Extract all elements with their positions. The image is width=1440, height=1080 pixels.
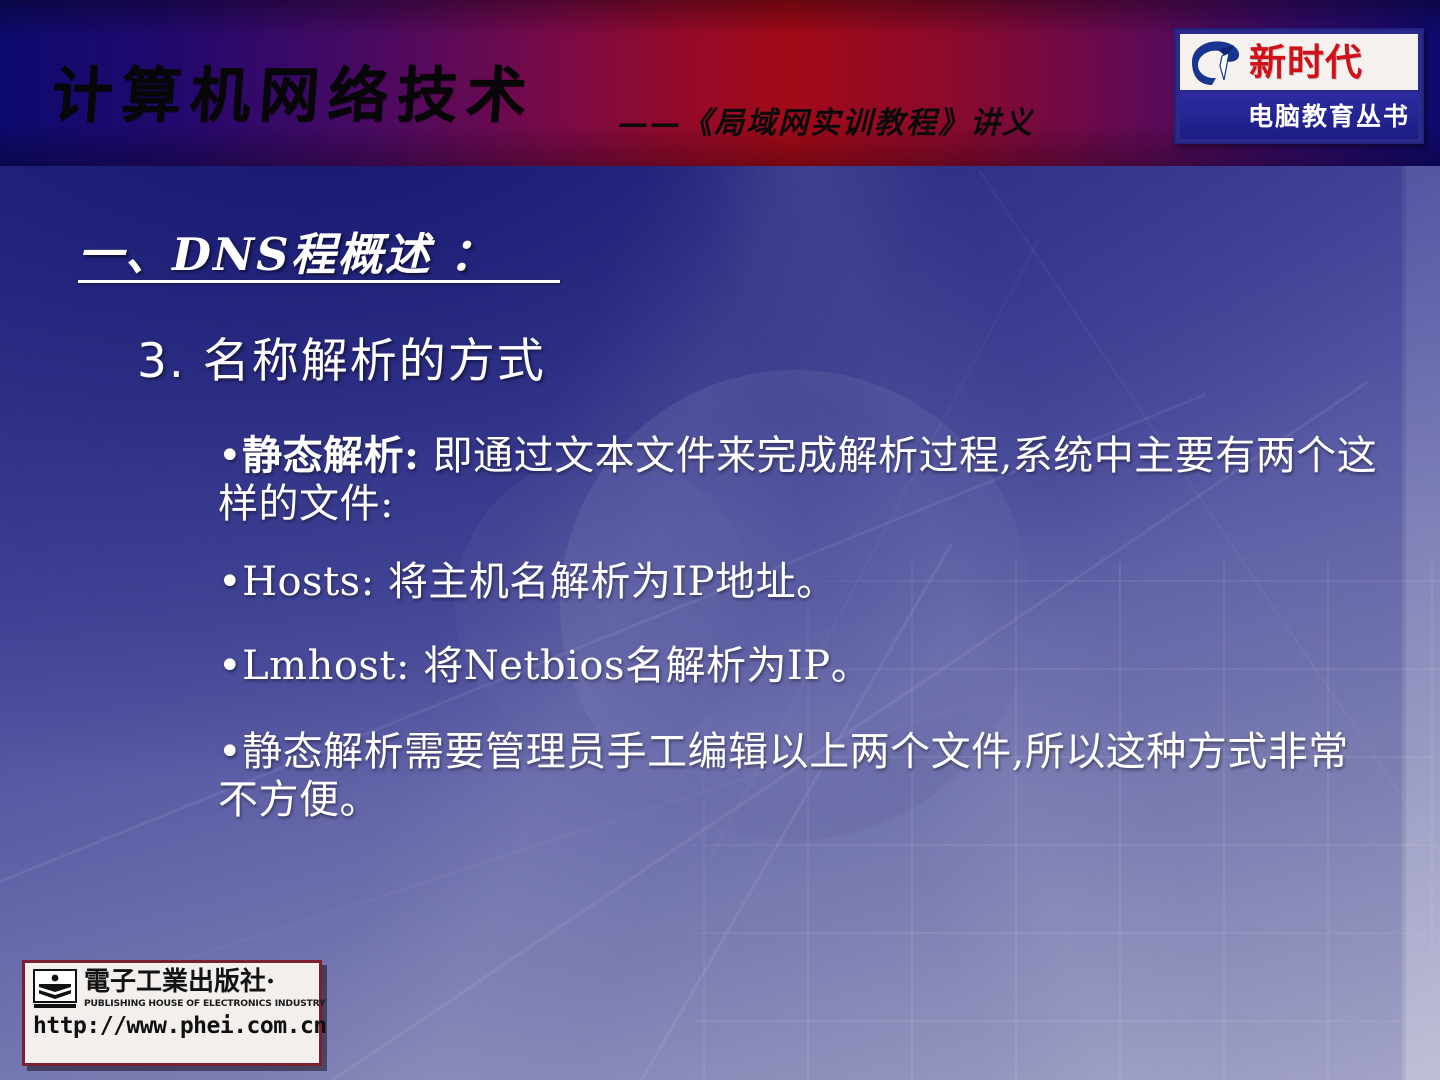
sub-heading: 3. 名称解析的方式 — [137, 322, 546, 391]
publisher-logo-row: 電子工業出版社· PUBLISHING HOUSE OF ELECTRONICS… — [33, 969, 311, 1009]
bullet-text: 将Netbios名解析为IP。 — [410, 643, 871, 689]
bullet-text: 静态解析需要管理员手工编辑以上两个文件,所以这种方式非常不方便。 — [218, 729, 1349, 823]
brand-name: 新时代 — [1249, 44, 1363, 81]
bullet-lead: Lmhost: — [242, 643, 410, 689]
bullet-marker: • — [218, 643, 242, 689]
section-heading: 一、DNS程概述 ： — [78, 218, 496, 283]
course-subtitle: ——《局域网实训教程》讲义 — [618, 98, 1034, 142]
brand-logo-top: 新时代 — [1180, 34, 1418, 90]
bullet-item: •静态解析: 即通过文本文件来完成解析过程,系统中主要有两个这样的文件: — [218, 432, 1378, 528]
section-heading-underline — [78, 280, 560, 283]
bullet-list: •静态解析: 即通过文本文件来完成解析过程,系统中主要有两个这样的文件: •Ho… — [218, 432, 1378, 824]
bullet-item: •静态解析需要管理员手工编辑以上两个文件,所以这种方式非常不方便。 — [218, 728, 1378, 824]
right-edge-band — [1406, 166, 1440, 1080]
publisher-name-en: PUBLISHING HOUSE OF ELECTRONICS INDUSTRY — [84, 998, 311, 1009]
publisher-name-cn: 電子工業出版社· — [84, 969, 311, 995]
bullet-lead: Hosts: — [242, 559, 375, 605]
publisher-logo: 電子工業出版社· PUBLISHING HOUSE OF ELECTRONICS… — [22, 960, 322, 1066]
brand-logo: 新时代 电脑教育丛书 — [1174, 28, 1424, 144]
course-title: 计算机网络技术 — [50, 66, 537, 126]
bullet-marker: • — [218, 433, 242, 479]
swoosh-logo-icon — [1182, 36, 1248, 88]
bullet-lead: 静态解析: — [242, 432, 419, 479]
publisher-names: 電子工業出版社· PUBLISHING HOUSE OF ELECTRONICS… — [84, 969, 311, 1009]
bullet-text: 将主机名解析为IP地址。 — [375, 559, 837, 605]
bullet-item: •Hosts: 将主机名解析为IP地址。 — [218, 558, 1378, 606]
bullet-marker: • — [218, 729, 242, 775]
slide-canvas: 计算机网络技术 ——《局域网实训教程》讲义 新时代 电脑教育丛书 一、DNS程概… — [0, 0, 1440, 1080]
publisher-url: http://www.phei.com.cn — [33, 1013, 311, 1039]
brand-series-name: 电脑教育丛书 — [1248, 104, 1410, 129]
bullet-item: •Lmhost: 将Netbios名解析为IP。 — [218, 642, 1378, 690]
phei-emblem-icon — [33, 969, 77, 1009]
brand-logo-bottom: 电脑教育丛书 — [1180, 93, 1418, 139]
bullet-marker: • — [218, 559, 242, 605]
